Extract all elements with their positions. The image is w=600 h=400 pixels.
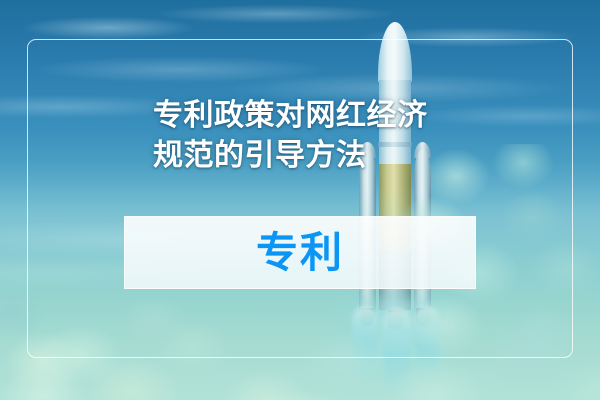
patent-banner: 专利政策对网红经济 规范的引导方法 专利 (0, 0, 600, 400)
headline-line-2: 规范的引导方法 (153, 136, 453, 176)
keyword-label: 专利 (256, 232, 344, 274)
headline-line-1: 专利政策对网红经济 (153, 96, 453, 136)
keyword-bar: 专利 (124, 216, 476, 289)
headline-title: 专利政策对网红经济 规范的引导方法 (153, 96, 453, 176)
rocket-nose-cone (378, 22, 412, 84)
